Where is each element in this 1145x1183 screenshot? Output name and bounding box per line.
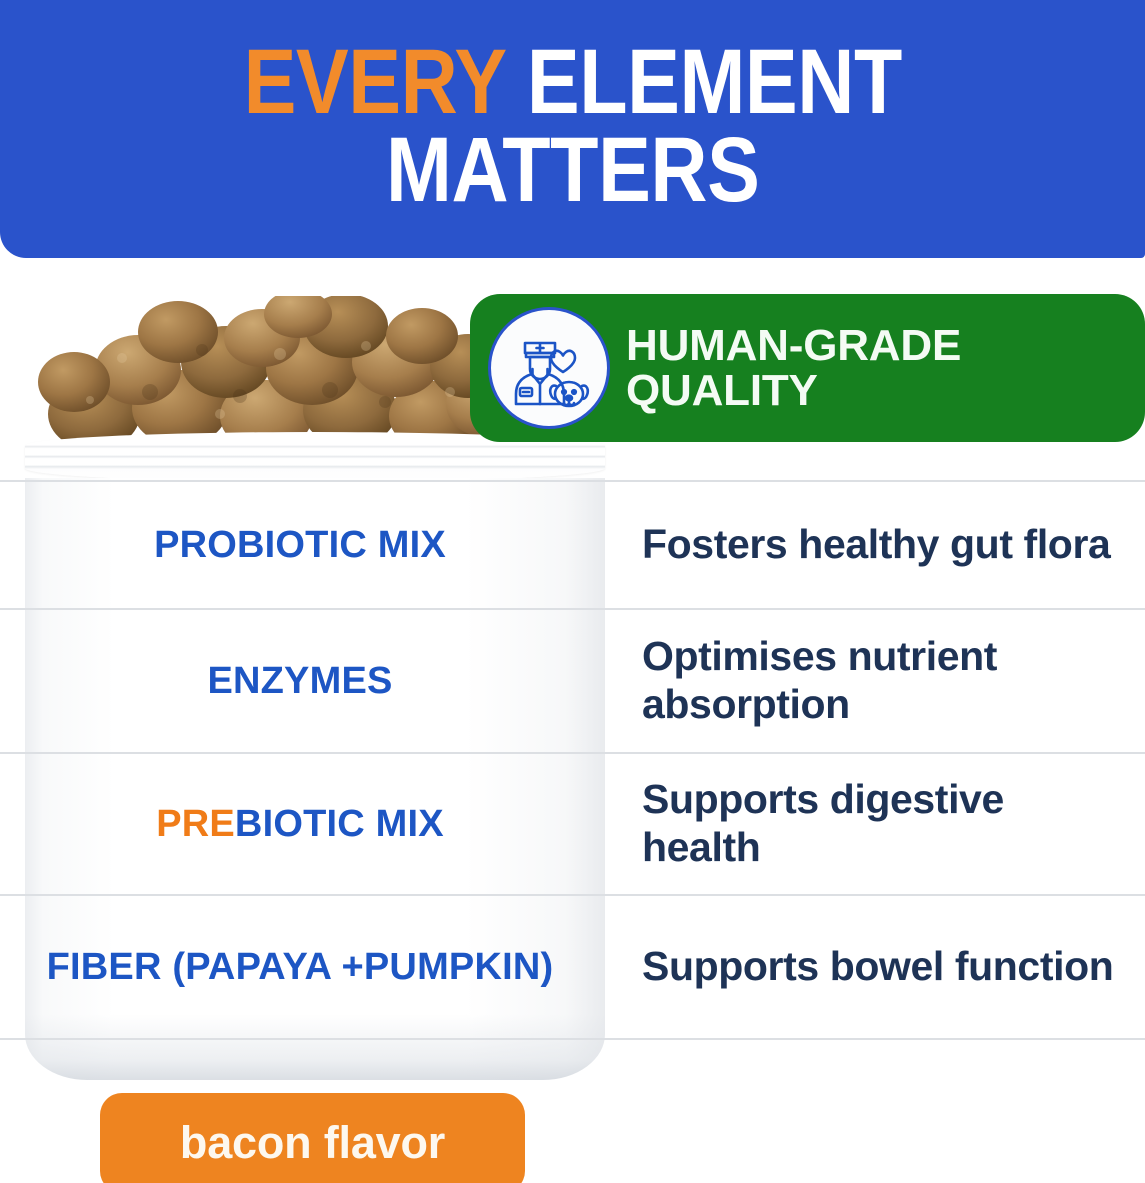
ingredient-cell: PROBIOTIC MIX xyxy=(0,482,600,608)
ingredient-cell: FIBER (PAPAYA +PUMPKIN) xyxy=(0,896,600,1038)
ingredient-label: ENZYMES xyxy=(207,660,392,703)
headline-rest-word: ELEMENT xyxy=(505,31,902,133)
infographic-page: EVERY ELEMENT MATTERS xyxy=(0,0,1145,1183)
human-grade-quality-badge: HUMAN-GRADE QUALITY xyxy=(470,294,1145,442)
flavor-label: bacon flavor xyxy=(180,1117,445,1169)
ingredient-label: PROBIOTIC MIX xyxy=(154,524,446,567)
ingredient-cell: ENZYMES xyxy=(0,610,600,752)
benefit-label: Supports bowel function xyxy=(642,943,1113,991)
badge-line-1: HUMAN-GRADE xyxy=(626,321,961,370)
headline-line-1: EVERY ELEMENT xyxy=(243,31,901,133)
vet-dog-heart-icon xyxy=(488,307,610,429)
header-banner: EVERY ELEMENT MATTERS xyxy=(0,0,1145,258)
ingredient-label: FIBER (PAPAYA +PUMPKIN) xyxy=(47,946,554,989)
benefit-cell: Fosters healthy gut flora xyxy=(600,482,1145,608)
badge-label: HUMAN-GRADE QUALITY xyxy=(626,323,961,414)
ingredient-benefit-table: PROBIOTIC MIX Fosters healthy gut flora … xyxy=(0,480,1145,1040)
table-row: FIBER (PAPAYA +PUMPKIN) Supports bowel f… xyxy=(0,894,1145,1040)
table-row: PROBIOTIC MIX Fosters healthy gut flora xyxy=(0,480,1145,608)
kibble-pile-image xyxy=(30,296,500,451)
headline-accent-word: EVERY xyxy=(243,31,505,133)
benefit-cell: Optimises nutrient absorption xyxy=(600,610,1145,752)
table-row: PREBIOTIC MIX Supports digestive health xyxy=(0,752,1145,894)
ingredient-label: PREBIOTIC MIX xyxy=(156,803,444,846)
badge-line-2: QUALITY xyxy=(626,368,961,413)
benefit-label: Fosters healthy gut flora xyxy=(642,521,1110,569)
benefit-cell: Supports bowel function xyxy=(600,896,1145,1038)
flavor-tab: bacon flavor xyxy=(100,1093,525,1183)
benefit-cell: Supports digestive health xyxy=(600,754,1145,894)
ingredient-label-rest: BIOTIC MIX xyxy=(235,803,444,845)
headline-line-2: MATTERS xyxy=(243,126,901,214)
benefit-label: Optimises nutrient absorption xyxy=(642,633,1129,728)
benefit-label: Supports digestive health xyxy=(642,776,1129,871)
page-title: EVERY ELEMENT MATTERS xyxy=(243,38,901,215)
table-row: ENZYMES Optimises nutrient absorption xyxy=(0,608,1145,752)
ingredient-accent-prefix: PRE xyxy=(156,803,235,845)
ingredient-cell: PREBIOTIC MIX xyxy=(0,754,600,894)
